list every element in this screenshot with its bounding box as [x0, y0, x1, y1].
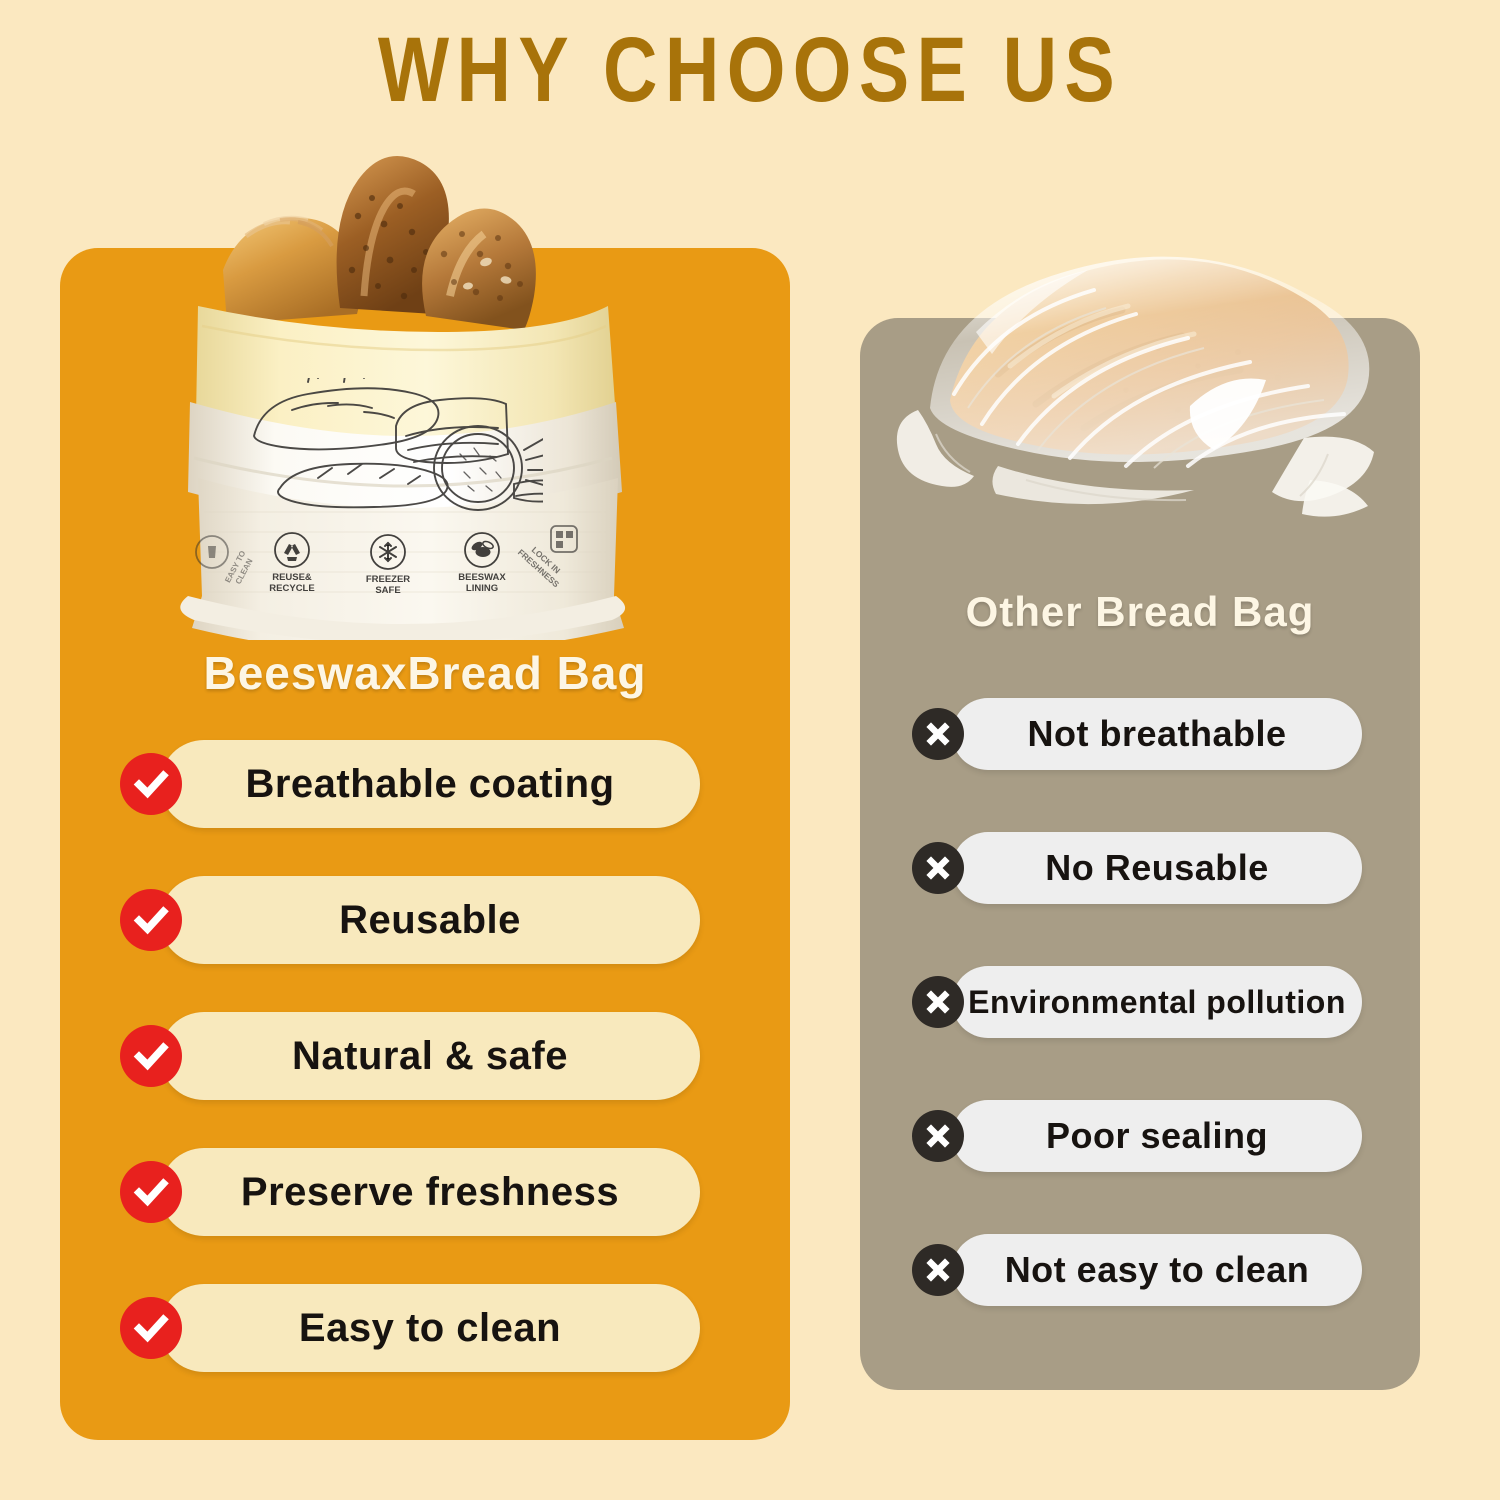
svg-text:SAFE: SAFE [375, 585, 400, 596]
feature-label: No Reusable [1045, 847, 1269, 889]
feature-row: Not easy to clean [912, 1234, 1362, 1306]
page-title: WHY CHOOSE US [135, 18, 1365, 123]
feature-list-beeswax-bag: Breathable coating Reusable Natural & sa… [120, 740, 700, 1420]
feature-pill: Easy to clean [160, 1284, 700, 1372]
feature-list-other-bag: Not breathable No Reusable Environmental… [912, 698, 1362, 1368]
svg-text:RECYCLE: RECYCLE [269, 583, 314, 594]
check-icon [120, 1161, 182, 1223]
beeswax-bread-bag-photo: EASY TO CLEAN REUSE& RECYCLE FREEZER SAF… [168, 120, 638, 640]
feature-row: Reusable [120, 876, 700, 964]
svg-text:LINING: LINING [466, 583, 498, 594]
feature-pill: No Reusable [952, 832, 1362, 904]
svg-text:BEESWAX: BEESWAX [458, 572, 506, 583]
feature-row: Breathable coating [120, 740, 700, 828]
feature-row: Poor sealing [912, 1100, 1362, 1172]
feature-pill: Natural & safe [160, 1012, 700, 1100]
check-icon [120, 1025, 182, 1087]
feature-label: Reusable [339, 898, 521, 943]
feature-label: Breathable coating [245, 762, 614, 807]
panel-heading-beeswax-bag: BeeswaxBread Bag [60, 646, 790, 700]
feature-pill: Breathable coating [160, 740, 700, 828]
feature-pill: Preserve freshness [160, 1148, 700, 1236]
x-icon [912, 708, 964, 760]
feature-pill: Reusable [160, 876, 700, 964]
feature-label: Poor sealing [1046, 1115, 1268, 1157]
check-icon [120, 889, 182, 951]
feature-row: Not breathable [912, 698, 1362, 770]
feature-row: Preserve freshness [120, 1148, 700, 1236]
svg-text:REUSE&: REUSE& [272, 572, 312, 583]
feature-label: Preserve freshness [241, 1170, 619, 1215]
x-icon [912, 976, 964, 1028]
feature-pill: Not easy to clean [952, 1234, 1362, 1306]
x-icon [912, 1244, 964, 1296]
feature-label: Not easy to clean [1005, 1249, 1310, 1291]
feature-row: No Reusable [912, 832, 1362, 904]
x-icon [912, 842, 964, 894]
feature-label: Not breathable [1027, 713, 1286, 755]
feature-label: Natural & safe [292, 1034, 568, 1079]
feature-label: Environmental pollution [968, 984, 1346, 1021]
feature-pill: Poor sealing [952, 1100, 1362, 1172]
feature-row: Natural & safe [120, 1012, 700, 1100]
plastic-bread-bag-photo [858, 228, 1418, 538]
feature-label: Easy to clean [299, 1306, 561, 1351]
feature-row: Environmental pollution [912, 966, 1362, 1038]
svg-text:FREEZER: FREEZER [366, 574, 410, 585]
panel-heading-other-bag: Other Bread Bag [860, 588, 1420, 636]
check-icon [120, 753, 182, 815]
feature-pill: Not breathable [952, 698, 1362, 770]
feature-pill: Environmental pollution [952, 966, 1362, 1038]
check-icon [120, 1297, 182, 1359]
feature-row: Easy to clean [120, 1284, 700, 1372]
x-icon [912, 1110, 964, 1162]
